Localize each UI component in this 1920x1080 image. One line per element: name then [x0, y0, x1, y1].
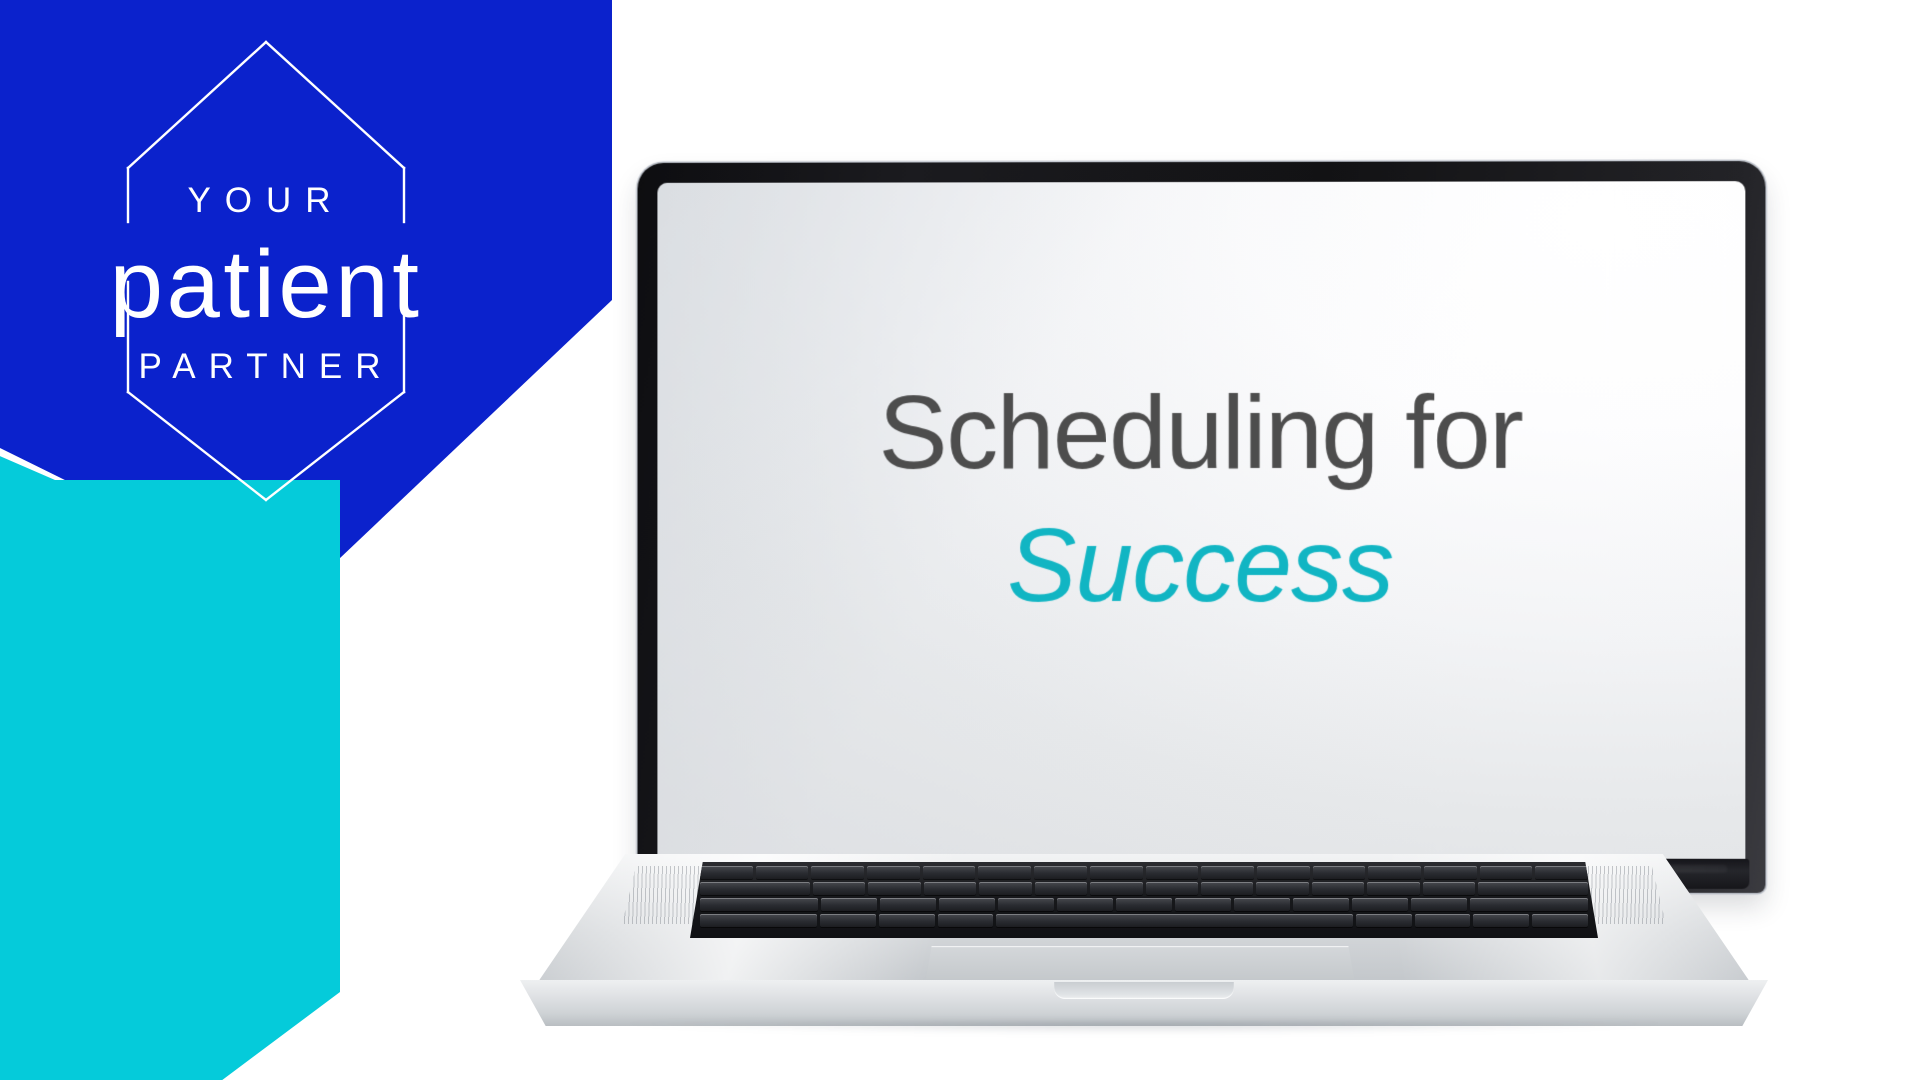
- key[interactable]: [880, 898, 936, 911]
- key[interactable]: [821, 898, 877, 911]
- slide-headline: Scheduling for: [879, 370, 1523, 497]
- key[interactable]: [1293, 898, 1349, 911]
- key[interactable]: [1313, 866, 1366, 879]
- keyboard[interactable]: [690, 862, 1598, 938]
- key[interactable]: [700, 914, 817, 927]
- key[interactable]: [1035, 882, 1087, 895]
- key[interactable]: [1367, 882, 1419, 895]
- key[interactable]: [1312, 882, 1364, 895]
- key[interactable]: [1057, 898, 1113, 911]
- key[interactable]: [1532, 914, 1588, 927]
- key[interactable]: [998, 898, 1054, 911]
- key[interactable]: [1257, 866, 1310, 879]
- slide-headline-accent: Success: [1007, 503, 1393, 630]
- key[interactable]: [1356, 914, 1412, 927]
- key[interactable]: [1473, 914, 1529, 927]
- key[interactable]: [938, 914, 994, 927]
- key[interactable]: [923, 866, 976, 879]
- laptop-mockup: Scheduling for Success: [494, 140, 1794, 1070]
- key[interactable]: [1256, 882, 1308, 895]
- key[interactable]: [1201, 882, 1253, 895]
- key[interactable]: [1424, 866, 1477, 879]
- key[interactable]: [1478, 882, 1588, 895]
- lid-release-notch: [1054, 982, 1234, 999]
- key[interactable]: [820, 914, 876, 927]
- key[interactable]: [1352, 898, 1408, 911]
- key[interactable]: [979, 882, 1031, 895]
- laptop-lid: Scheduling for Success: [638, 161, 1766, 893]
- key[interactable]: [978, 866, 1031, 879]
- key[interactable]: [1415, 914, 1471, 927]
- key[interactable]: [1034, 866, 1087, 879]
- key[interactable]: [1175, 898, 1231, 911]
- spacebar-key[interactable]: [996, 914, 1353, 927]
- key[interactable]: [1090, 866, 1143, 879]
- key[interactable]: [813, 882, 865, 895]
- key[interactable]: [1201, 866, 1254, 879]
- key[interactable]: [1470, 898, 1588, 911]
- key[interactable]: [1480, 866, 1533, 879]
- logo-line-your: YOUR: [187, 181, 344, 220]
- key[interactable]: [1535, 866, 1588, 879]
- key[interactable]: [1423, 882, 1475, 895]
- key[interactable]: [867, 866, 920, 879]
- laptop-screen: Scheduling for Success: [657, 181, 1745, 865]
- logo-line-partner: PARTNER: [138, 347, 393, 386]
- laptop-base: [494, 854, 1794, 1044]
- key[interactable]: [1146, 882, 1198, 895]
- key[interactable]: [1411, 898, 1467, 911]
- key[interactable]: [700, 866, 753, 879]
- logo-line-patient: patient: [110, 231, 423, 338]
- laptop-drop-shadow: [554, 1022, 1734, 1038]
- key[interactable]: [756, 866, 809, 879]
- key[interactable]: [939, 898, 995, 911]
- key[interactable]: [1116, 898, 1172, 911]
- slide-content: Scheduling for Success: [657, 181, 1745, 865]
- key[interactable]: [811, 866, 864, 879]
- key[interactable]: [879, 914, 935, 927]
- key[interactable]: [1368, 866, 1421, 879]
- slide-canvas: YOUR patient PARTNER Scheduling for Succ…: [0, 0, 1920, 1080]
- key[interactable]: [700, 898, 818, 911]
- key[interactable]: [1090, 882, 1142, 895]
- key[interactable]: [1234, 898, 1290, 911]
- key[interactable]: [1146, 866, 1199, 879]
- key[interactable]: [868, 882, 920, 895]
- key[interactable]: [924, 882, 976, 895]
- key[interactable]: [700, 882, 810, 895]
